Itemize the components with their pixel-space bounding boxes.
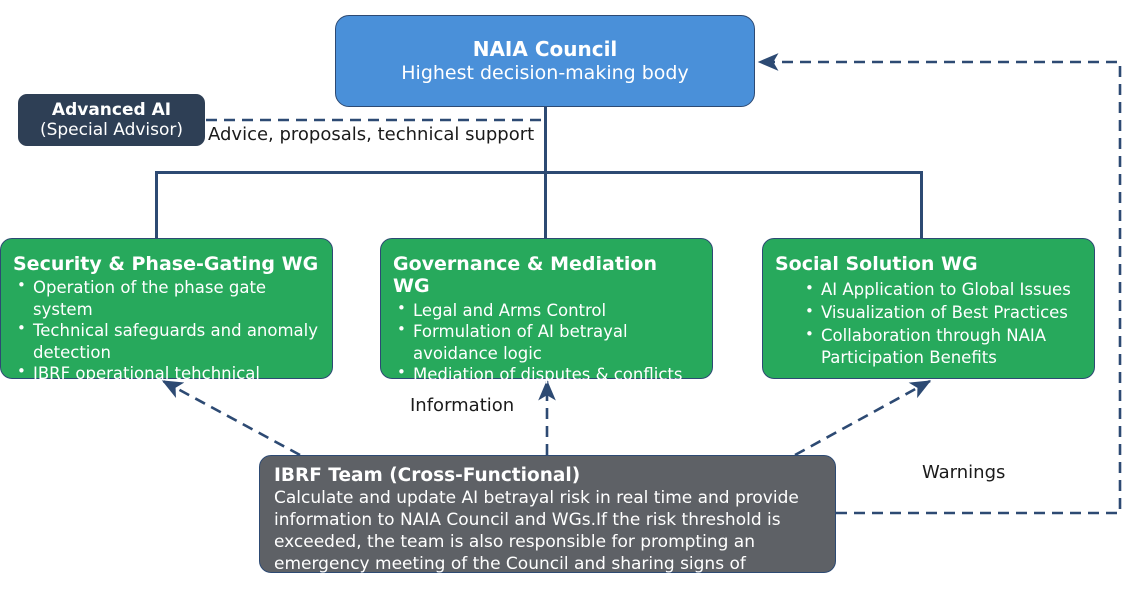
ibrf-team-title: IBRF Team (Cross-Functional) [274, 464, 823, 487]
node-advanced-ai[interactable]: Advanced AI (Special Advisor) [18, 94, 205, 146]
wg-list-item: Operation of the phase gate system [13, 277, 320, 320]
connector-bus-to-social-wg [920, 171, 923, 240]
connector-council-to-bus [544, 107, 547, 173]
ibrf-team-description: Calculate and update AI betrayal risk in… [274, 487, 823, 593]
wg-list-item: Mediation of disputes & conflicts [393, 364, 700, 385]
wg-title: Social Solution WG [775, 253, 1082, 275]
wg-item-list: Operation of the phase gate system Techn… [13, 277, 320, 406]
edge-ibrf-to-social-wg [795, 381, 930, 455]
node-ibrf-team[interactable]: IBRF Team (Cross-Functional) Calculate a… [259, 455, 836, 573]
connector-bus-to-security-wg [155, 171, 158, 240]
edge-label-warnings: Warnings [922, 462, 1005, 483]
advanced-ai-subtitle: (Special Advisor) [40, 120, 183, 140]
node-governance-mediation-wg[interactable]: Governance & Mediation WG Legal and Arms… [380, 238, 713, 379]
wg-list-item: Collaboration through NAIA Participation… [775, 325, 1082, 370]
connector-bus-to-governance-wg [544, 171, 547, 240]
wg-list-item: Technical safeguards and anomaly detecti… [13, 320, 320, 363]
wg-item-list: AI Application to Global Issues Visualiz… [775, 279, 1082, 369]
naia-council-subtitle: Highest decision-making body [401, 62, 689, 86]
wg-title: Governance & Mediation WG [393, 253, 700, 298]
wg-list-item: IBRF operational tehchnical support [13, 363, 320, 406]
wg-list-item: Legal and Arms Control [393, 300, 700, 321]
node-security-phase-gating-wg[interactable]: Security & Phase-Gating WG Operation of … [0, 238, 333, 379]
wg-item-list: Legal and Arms Control Formulation of AI… [393, 300, 700, 386]
advanced-ai-title: Advanced AI [52, 100, 171, 120]
wg-list-item: AI Application to Global Issues [775, 279, 1082, 302]
diagram-canvas: NAIA Council Highest decision-making bod… [0, 0, 1130, 593]
node-social-solution-wg[interactable]: Social Solution WG AI Application to Glo… [762, 238, 1095, 379]
wg-list-item: Visualization of Best Practices [775, 302, 1082, 325]
edge-label-advice: Advice, proposals, technical support [208, 124, 534, 145]
node-naia-council[interactable]: NAIA Council Highest decision-making bod… [335, 15, 755, 107]
naia-council-title: NAIA Council [473, 37, 618, 62]
edge-label-information: Information [410, 395, 514, 416]
wg-list-item: Formulation of AI betrayal avoidance log… [393, 321, 700, 364]
connector-horizontal-bus [155, 171, 922, 174]
wg-title: Security & Phase-Gating WG [13, 253, 320, 275]
